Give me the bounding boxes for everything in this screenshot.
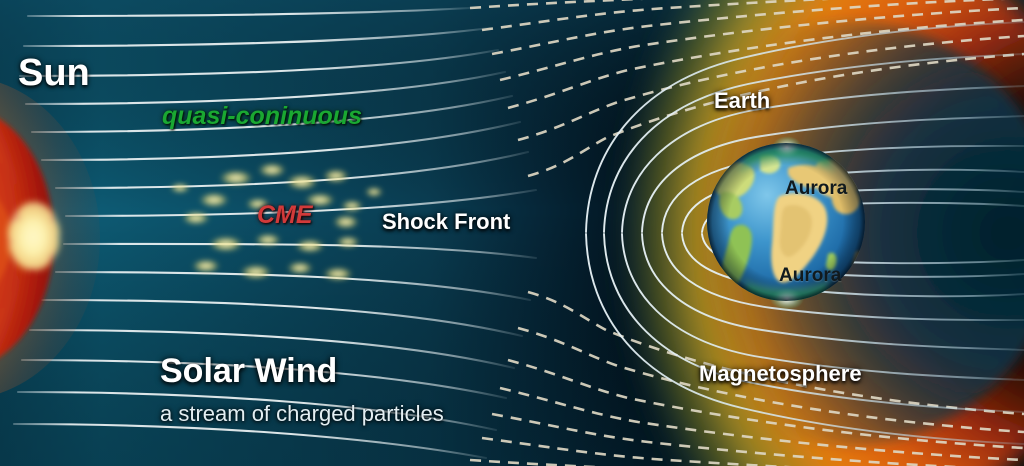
solar-wind-title: Solar Wind [160, 354, 337, 388]
shock-front-label: Shock Front [382, 211, 510, 233]
earth-label: Earth [714, 90, 770, 112]
cme-label: CME [257, 203, 313, 228]
sun-label: Sun [18, 54, 90, 92]
earth-globe [0, 0, 1024, 466]
aurora-south-label: Aurora [779, 266, 841, 285]
quasi-continuous-label: quasi-coninuous [162, 104, 362, 129]
diagram-canvas: Sun quasi-coninuous CME Shock Front Eart… [0, 0, 1024, 466]
aurora-north-label: Aurora [785, 179, 847, 198]
magnetosphere-label: Magnetosphere [699, 363, 862, 385]
solar-wind-subtitle: a stream of charged particles [160, 403, 444, 425]
